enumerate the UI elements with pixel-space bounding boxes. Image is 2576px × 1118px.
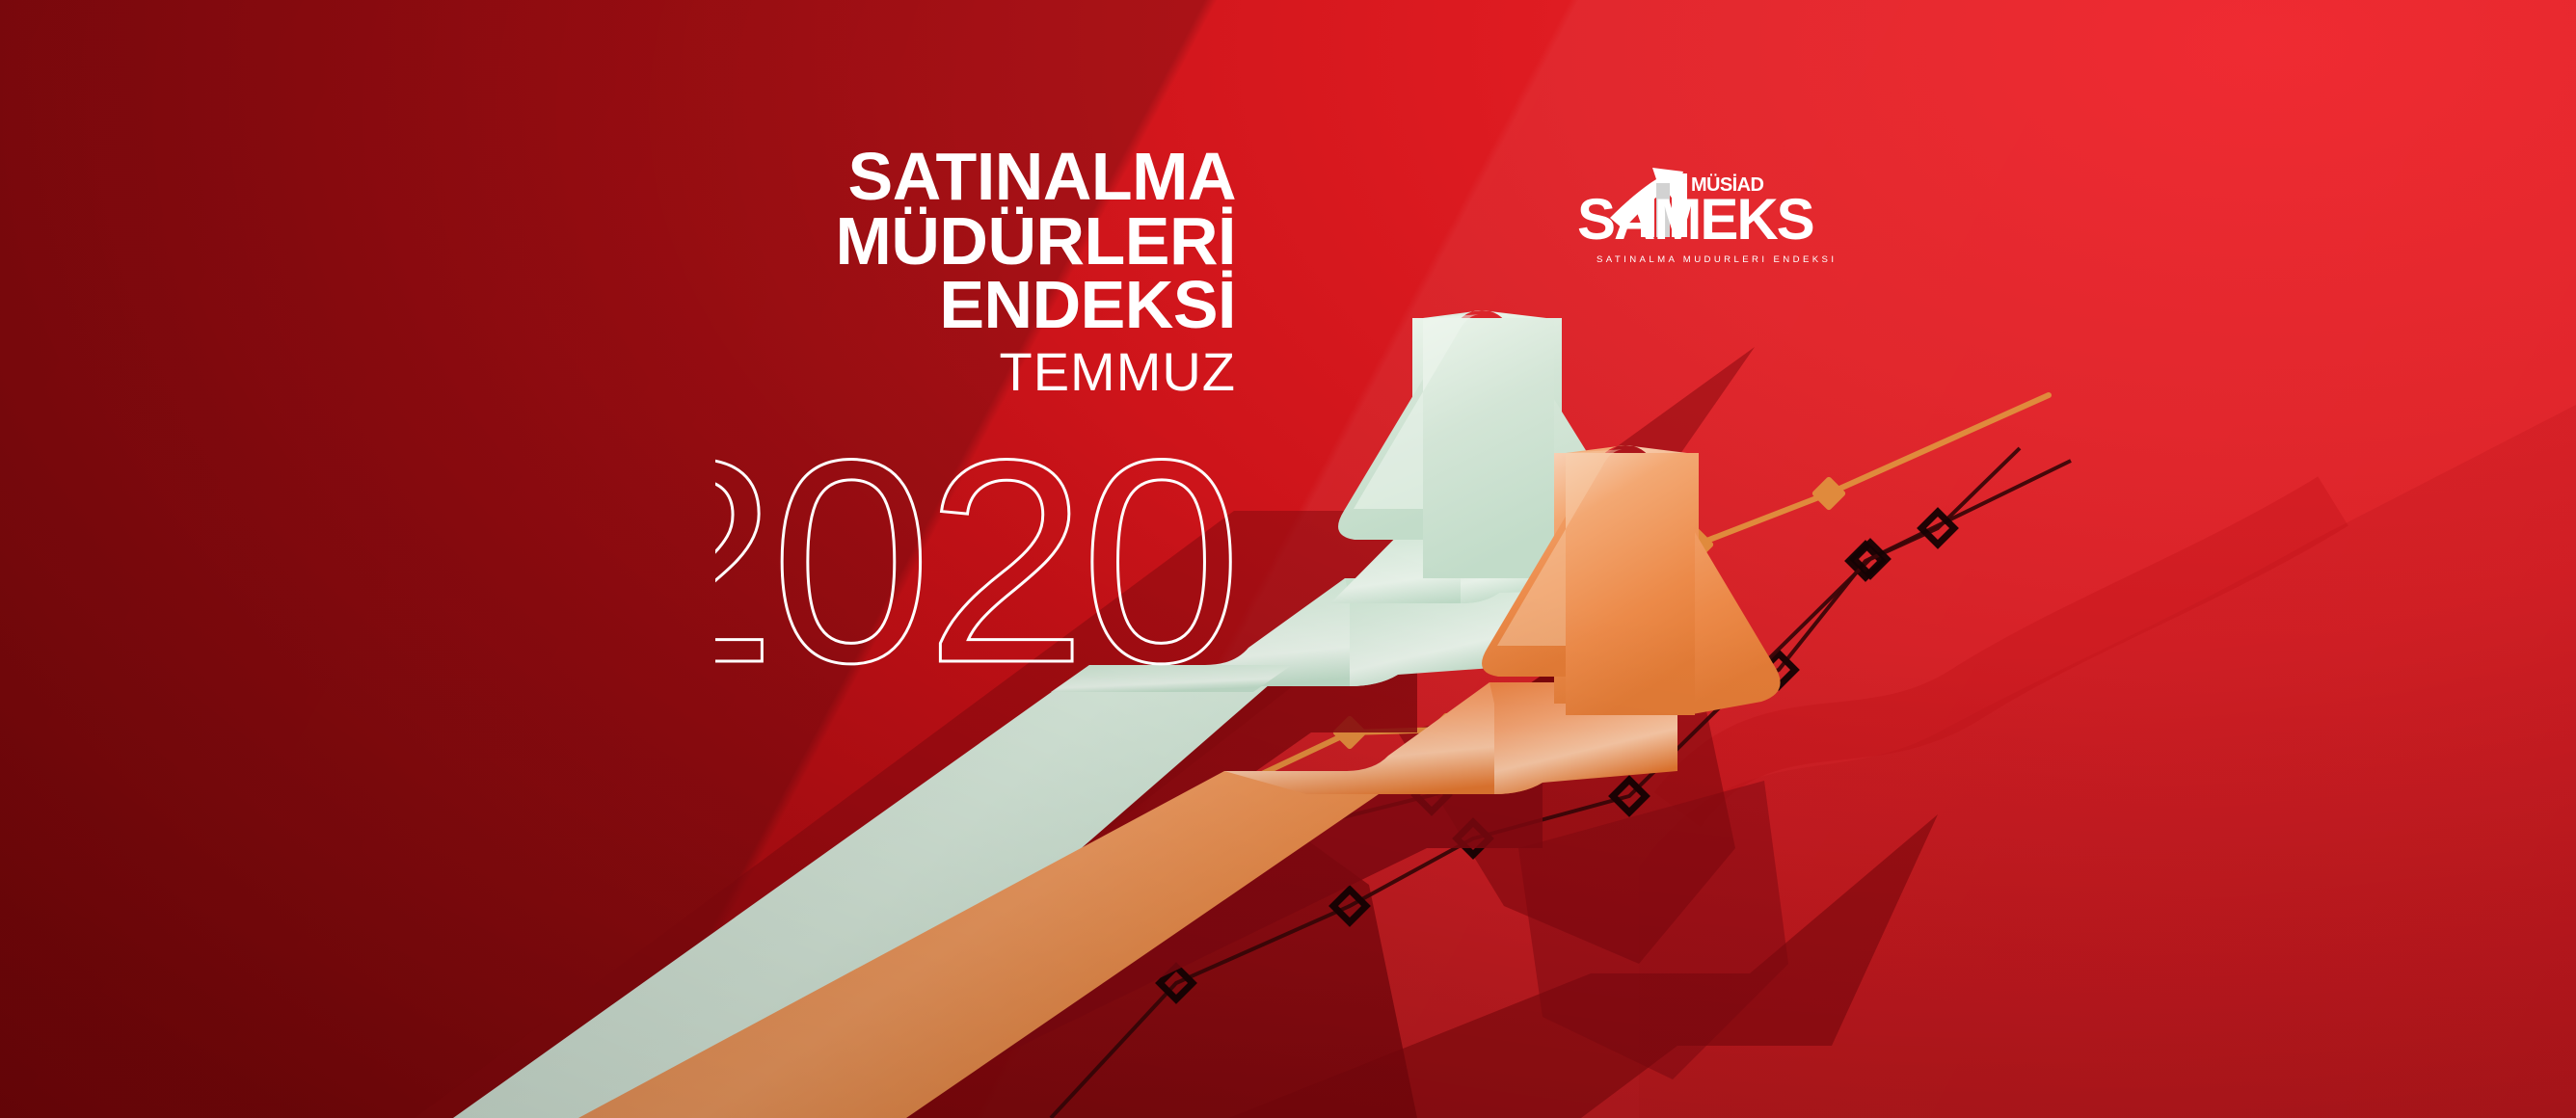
sameks-logo[interactable]: SAMEKS MÜSİAD SATINALMA MUDURLERI ENDEKS… — [1570, 146, 1878, 301]
headline-month: TEMMUZ — [715, 345, 1236, 399]
headline-line-3: ENDEKSİ — [715, 273, 1236, 337]
headline-line-1: SATINALMA — [715, 145, 1236, 209]
logo-brand: MÜSİAD — [1691, 173, 1763, 196]
sameks-logo-svg: SAMEKS MÜSİAD SATINALMA MUDURLERI ENDEKS… — [1570, 146, 1878, 301]
poster-canvas: SATINALMA MÜDÜRLERİ ENDEKSİ TEMMUZ 2020 … — [0, 0, 2576, 1118]
logo-wordmark: SAMEKS — [1577, 187, 1813, 252]
logo-tagline: SATINALMA MUDURLERI ENDEKSI — [1597, 254, 1837, 265]
headline-line-2: MÜDÜRLERİ — [715, 209, 1236, 274]
headline-block: SATINALMA MÜDÜRLERİ ENDEKSİ TEMMUZ — [715, 145, 1236, 399]
poster-artwork — [0, 0, 2576, 1118]
